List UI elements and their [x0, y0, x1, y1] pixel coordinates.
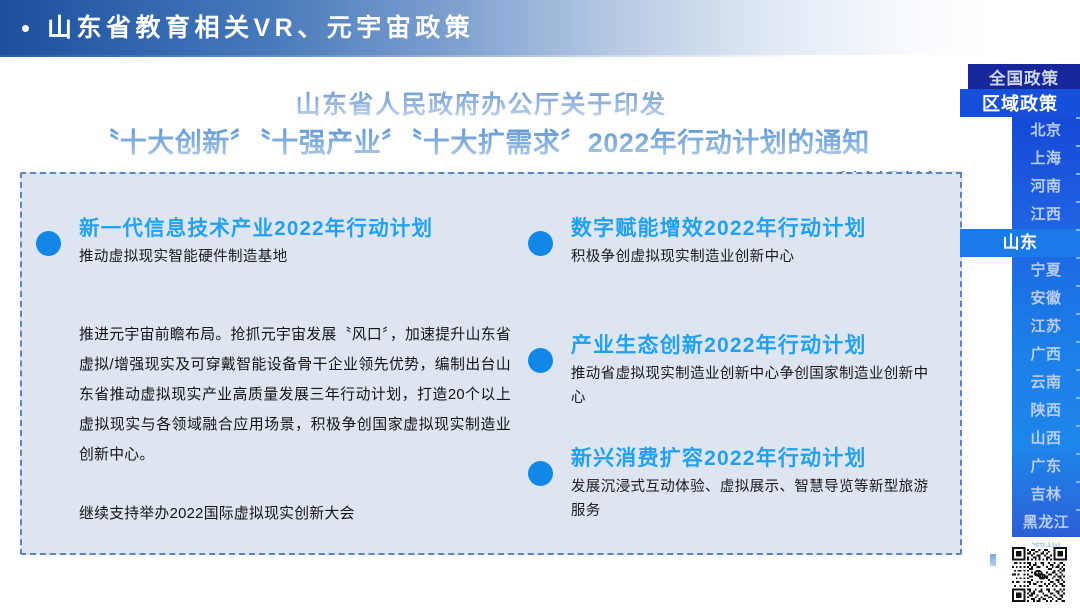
- document-title-line-2: 〝十大创新〞〝十强产业〞〝十大扩需求〞2022年行动计划的通知: [0, 124, 962, 162]
- sidebar-region-item[interactable]: 上海: [1012, 145, 1080, 173]
- list-item-heading: 新兴消费扩容2022年行动计划: [571, 444, 961, 474]
- left-paragraph-tail: 继续支持举办2022国际虚拟现实创新大会: [79, 499, 511, 529]
- policy-sidebar: 全国政策 区域政策 北京上海河南江西山东宁夏安徽江苏广西云南陕西山西广东吉林黑龙…: [960, 57, 1080, 608]
- header-underline: [0, 55, 1080, 57]
- sidebar-region-item[interactable]: 安徽: [1012, 285, 1080, 313]
- slide-page: 山东省教育相关VR、元宇宙政策 山东省人民政府办公厅关于印发 〝十大创新〞〝十强…: [0, 0, 1080, 608]
- sidebar-region-item[interactable]: 山西: [1012, 425, 1080, 453]
- sidebar-region-item[interactable]: 黑龙江: [1012, 509, 1080, 537]
- sidebar-region-item[interactable]: 江西: [1012, 201, 1080, 229]
- sidebar-region-item[interactable]: 云南: [1012, 369, 1080, 397]
- sidebar-region-item[interactable]: 宁夏: [1012, 257, 1080, 285]
- list-item-heading: 新一代信息技术产业2022年行动计划: [79, 214, 433, 244]
- content-column-right: 数字赋能增效2022年行动计划 积极争创虚拟现实制造业创新中心 产业生态创新20…: [520, 174, 960, 553]
- document-title-line-1: 山东省人民政府办公厅关于印发: [0, 88, 962, 122]
- sidebar-region-item[interactable]: 广西: [1012, 341, 1080, 369]
- sidebar-region-item[interactable]: 陕西: [1012, 397, 1080, 425]
- list-item-subtext: 推动虚拟现实智能硬件制造基地: [79, 245, 433, 269]
- list-item-subtext: 发展沉浸式互动体验、虚拟展示、智慧导览等新型旅游服务: [571, 475, 943, 523]
- sidebar-region-item[interactable]: 吉林: [1012, 481, 1080, 509]
- bullet-dot-icon: [528, 231, 553, 256]
- list-item: 新一代信息技术产业2022年行动计划 推动虚拟现实智能硬件制造基地: [36, 214, 433, 269]
- sidebar-region-item[interactable]: 河南: [1012, 173, 1080, 201]
- list-item: 产业生态创新2022年行动计划 推动省虚拟现实制造业创新中心争创国家制造业创新中…: [528, 331, 961, 410]
- list-item: 新兴消费扩容2022年行动计划 发展沉浸式互动体验、虚拟展示、智慧导览等新型旅游…: [528, 444, 961, 523]
- bullet-dot-icon: [528, 348, 553, 373]
- sidebar-tab-national[interactable]: 全国政策: [968, 64, 1080, 89]
- sidebar-edge-mark: [990, 554, 996, 566]
- list-item-subtext: 积极争创虚拟现实制造业创新中心: [571, 245, 943, 269]
- header-bar: 山东省教育相关VR、元宇宙政策: [0, 0, 1080, 57]
- wechat-qr-code-icon[interactable]: [1012, 547, 1067, 602]
- content-panel: 新一代信息技术产业2022年行动计划 推动虚拟现实智能硬件制造基地 推进元宇宙前…: [20, 172, 962, 555]
- sidebar-tick-marks: [1075, 117, 1080, 537]
- sidebar-region-item-active[interactable]: 山东: [960, 229, 1080, 257]
- list-item-heading: 数字赋能增效2022年行动计划: [571, 214, 961, 244]
- page-title: 山东省教育相关VR、元宇宙政策: [47, 16, 474, 41]
- left-paragraph: 推进元宇宙前瞻布局。抢抓元宇宙发展〝风口〞，加速提升山东省虚拟/增强现实及可穿戴…: [79, 320, 511, 470]
- sidebar-region-item[interactable]: 广东: [1012, 453, 1080, 481]
- list-item-heading: 产业生态创新2022年行动计划: [571, 331, 961, 361]
- content-column-left: 新一代信息技术产业2022年行动计划 推动虚拟现实智能硬件制造基地 推进元宇宙前…: [22, 174, 520, 553]
- sidebar-region-item[interactable]: 北京: [1012, 117, 1080, 145]
- sidebar-tab-regional[interactable]: 区域政策: [960, 89, 1080, 117]
- list-item: 数字赋能增效2022年行动计划 积极争创虚拟现实制造业创新中心: [528, 214, 961, 269]
- bullet-dot-icon: [36, 231, 61, 256]
- dot-icon: [22, 25, 29, 32]
- list-item-subtext: 推动省虚拟现实制造业创新中心争创国家制造业创新中心: [571, 362, 943, 410]
- document-title: 山东省人民政府办公厅关于印发 〝十大创新〞〝十强产业〞〝十大扩需求〞2022年行…: [0, 88, 962, 162]
- sidebar-region-item[interactable]: 江苏: [1012, 313, 1080, 341]
- sidebar-region-list: 北京上海河南江西山东宁夏安徽江苏广西云南陕西山西广东吉林黑龙江深圳广州: [1012, 117, 1080, 537]
- bullet-dot-icon: [528, 461, 553, 486]
